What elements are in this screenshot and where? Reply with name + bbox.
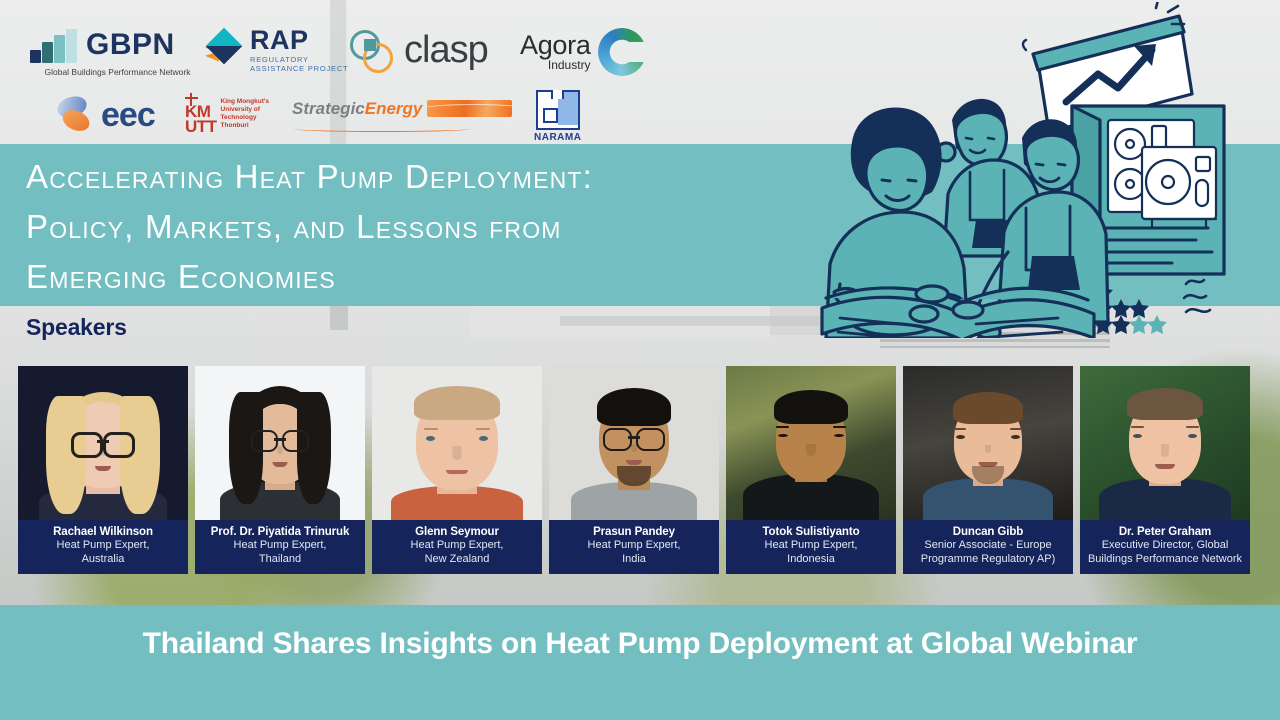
speaker-card[interactable]: Dr. Peter Graham Executive Director, Glo… [1080, 366, 1250, 574]
speaker-photo [195, 366, 365, 520]
speaker-role-line1: Senior Associate - Europe [924, 539, 1051, 553]
agora-wordmark: Agora [520, 32, 591, 59]
speaker-name: Prasun Pandey [593, 525, 675, 539]
speaker-card-list: Rachael Wilkinson Heat Pump Expert, Aust… [18, 366, 1268, 574]
speaker-card[interactable]: Prasun Pandey Heat Pump Expert, India [549, 366, 719, 574]
speaker-photo [1080, 366, 1250, 520]
speaker-photo [372, 366, 542, 520]
eec-mark-icon [55, 95, 95, 135]
agora-subtitle: Industry [520, 58, 591, 72]
banner-headline: Thailand Shares Insights on Heat Pump De… [0, 627, 1280, 661]
speaker-caption: Glenn Seymour Heat Pump Expert, New Zeal… [372, 520, 542, 574]
speaker-caption: Duncan Gibb Senior Associate - Europe Pr… [903, 520, 1073, 574]
speaker-caption: Rachael Wilkinson Heat Pump Expert, Aust… [18, 520, 188, 574]
rap-wordmark: RAP [250, 28, 348, 54]
title-line-1: Accelerating Heat Pump Deployment: [26, 152, 816, 202]
speaker-card[interactable]: Rachael Wilkinson Heat Pump Expert, Aust… [18, 366, 188, 574]
logo-agora-industry: Agora Industry [520, 28, 646, 76]
speaker-role-line1: Heat Pump Expert, [234, 539, 327, 553]
speaker-role-line1: Heat Pump Expert, [765, 539, 858, 553]
speaker-photo [726, 366, 896, 520]
speaker-photo [903, 366, 1073, 520]
speaker-card[interactable]: Totok Sulistiyanto Heat Pump Expert, Ind… [726, 366, 896, 574]
speaker-photo [549, 366, 719, 520]
kmutt-wordmark: KMUTT [185, 105, 217, 135]
speaker-role-line2: India [622, 553, 646, 567]
speaker-photo [18, 366, 188, 520]
webinar-title: Accelerating Heat Pump Deployment: Polic… [26, 152, 816, 302]
speaker-name: Totok Sulistiyanto [762, 525, 859, 539]
speaker-card[interactable]: Glenn Seymour Heat Pump Expert, New Zeal… [372, 366, 542, 574]
title-line-2: Policy, Markets, and Lessons from [26, 202, 816, 252]
logo-strategic-energy: StrategicEnergy [292, 100, 512, 117]
kmutt-cross-icon [185, 93, 198, 106]
logo-gbpn: GBPN Global Buildings Performance Networ… [30, 27, 175, 63]
logo-rap: RAP REGULATORY ASSISTANCE PROJECT [203, 28, 348, 73]
speaker-role-line2: New Zealand [425, 553, 490, 567]
speaker-name: Rachael Wilkinson [53, 525, 153, 539]
gbpn-tagline: Global Buildings Performance Network [30, 67, 205, 77]
logo-narama: NARAMA [534, 90, 581, 143]
narama-wordmark: NARAMA [534, 132, 581, 143]
title-line-3: Emerging Economies [26, 252, 816, 302]
speakers-heading: Speakers [26, 314, 127, 341]
speaker-role-line1: Heat Pump Expert, [588, 539, 681, 553]
webinar-poster: GBPN Global Buildings Performance Networ… [0, 0, 1280, 720]
gbpn-wordmark: GBPN [86, 30, 175, 60]
strategic-energy-underline [294, 126, 470, 132]
speaker-name: Dr. Peter Graham [1119, 525, 1211, 539]
speaker-role-line1: Heat Pump Expert, [411, 539, 504, 553]
rap-mark-icon [203, 30, 245, 72]
speaker-card[interactable]: Duncan Gibb Senior Associate - Europe Pr… [903, 366, 1073, 574]
gbpn-mark-icon [30, 27, 80, 63]
clasp-mark-icon [350, 30, 396, 70]
clasp-wordmark: clasp [404, 31, 488, 69]
speaker-role-line2: Thailand [259, 553, 301, 567]
bottom-banner [0, 605, 1280, 720]
speaker-name: Glenn Seymour [415, 525, 499, 539]
speaker-name: Duncan Gibb [953, 525, 1023, 539]
speaker-caption: Prof. Dr. Piyatida Trinuruk Heat Pump Ex… [195, 520, 365, 574]
rap-tagline: REGULATORY ASSISTANCE PROJECT [250, 55, 348, 74]
logo-kmutt: KMUTT King Mongkut's University of Techn… [185, 93, 269, 135]
strategic-energy-swoosh-icon [427, 100, 512, 117]
heat-pump-illustration [800, 2, 1270, 338]
speaker-name: Prof. Dr. Piyatida Trinuruk [211, 525, 350, 539]
kmutt-tagline: King Mongkut's University of Technology … [221, 98, 269, 130]
logo-eec: eec [55, 95, 155, 135]
speaker-card[interactable]: Prof. Dr. Piyatida Trinuruk Heat Pump Ex… [195, 366, 365, 574]
eec-wordmark: eec [101, 98, 155, 132]
narama-mark-icon [536, 90, 580, 130]
agora-c-mark-icon [598, 28, 646, 76]
speaker-role-line1: Heat Pump Expert, [57, 539, 150, 553]
speaker-caption: Totok Sulistiyanto Heat Pump Expert, Ind… [726, 520, 896, 574]
strategic-energy-wordmark: StrategicEnergy [292, 100, 422, 117]
speaker-role-line2: Programme Regulatory AP) [921, 553, 1056, 567]
speaker-role-line2: Australia [82, 553, 125, 567]
speaker-role-line2: Indonesia [787, 553, 835, 567]
speaker-role-line2: Buildings Performance Network [1088, 553, 1242, 567]
speaker-caption: Dr. Peter Graham Executive Director, Glo… [1080, 520, 1250, 574]
speaker-role-line1: Executive Director, Global [1102, 539, 1229, 553]
speaker-caption: Prasun Pandey Heat Pump Expert, India [549, 520, 719, 574]
logo-clasp: clasp [350, 30, 488, 70]
